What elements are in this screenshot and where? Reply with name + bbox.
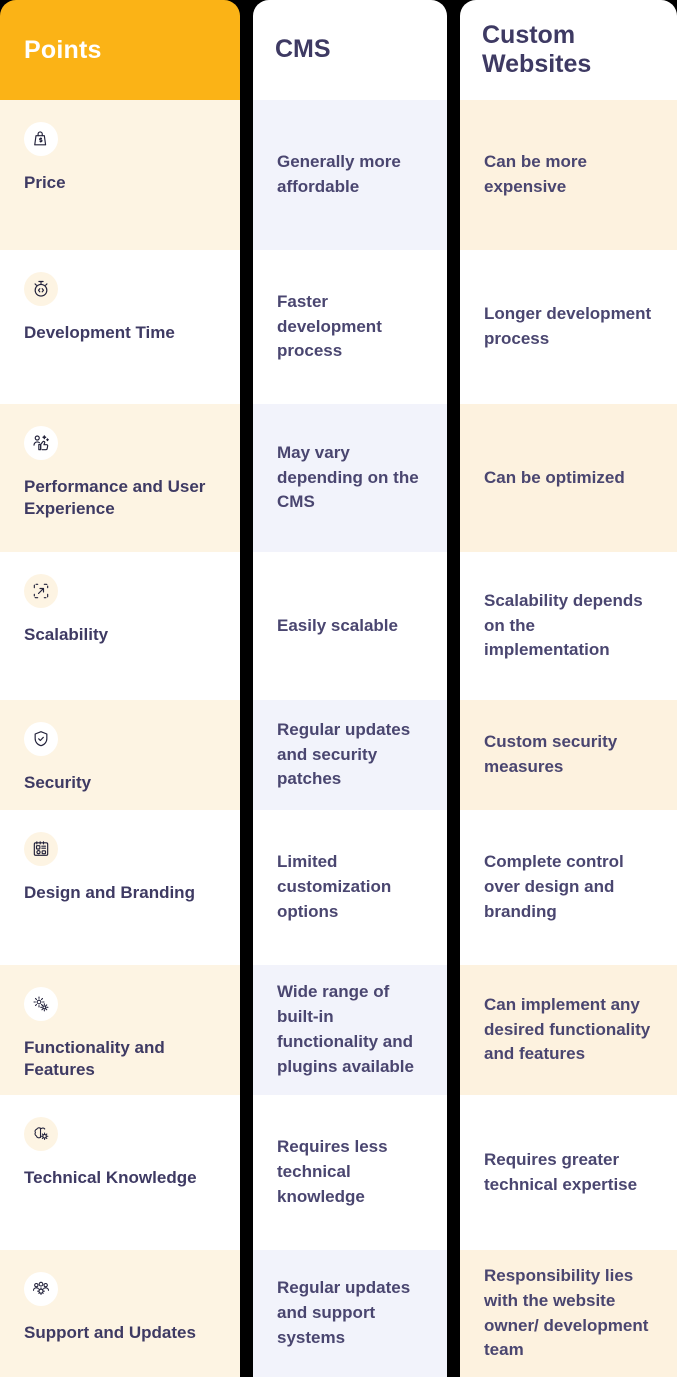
cell-text: Requires less technical knowledge [277,1135,423,1209]
points-row-label: Performance and User Experience [24,476,216,521]
expand-arrow-icon [24,574,58,608]
points-row-label: Functionality and Features [24,1037,216,1082]
column-divider-1 [240,0,253,1377]
column-header-points-label: Points [24,36,102,65]
shield-check-icon [24,722,58,756]
cell-text: Requires greater technical expertise [484,1148,653,1198]
points-row-label: Scalability [24,624,216,646]
points-row-label: Development Time [24,322,216,344]
cms-cell-performance[interactable]: May vary depending on the CMS [253,404,447,552]
custom-cell-security[interactable]: Custom security measures [460,700,677,810]
custom-cell-support-updates[interactable]: Responsibility lies with the website own… [460,1250,677,1377]
cell-text: Custom security measures [484,730,653,780]
points-row-label: Support and Updates [24,1322,216,1344]
cell-text: Easily scalable [277,614,423,639]
column-header-points: Points [0,0,240,100]
custom-cell-functionality[interactable]: Can implement any desired functionality … [460,965,677,1095]
comparison-table: Points Price [0,0,677,1377]
custom-cell-design-branding[interactable]: Complete control over design and brandin… [460,810,677,965]
cell-text: Responsibility lies with the website own… [484,1264,653,1363]
custom-cell-price[interactable]: Can be more expensive [460,100,677,250]
points-row-support-updates[interactable]: Support and Updates [0,1250,240,1377]
column-points: Points Price [0,0,240,1377]
custom-cell-technical-knowledge[interactable]: Requires greater technical expertise [460,1095,677,1250]
points-row-label: Price [24,172,216,194]
cms-cell-support-updates[interactable]: Regular updates and support systems [253,1250,447,1377]
custom-cell-performance[interactable]: Can be optimized [460,404,677,552]
cell-text: May vary depending on the CMS [277,441,423,515]
column-header-cms: CMS [253,0,447,100]
cell-text: Faster development process [277,290,423,364]
support-people-icon [24,1272,58,1306]
cell-text: Generally more affordable [277,150,423,200]
column-divider-2 [447,0,460,1377]
user-thumbs-up-icon [24,426,58,460]
column-header-custom-websites: Custom Websites [460,0,677,100]
cell-text: Complete control over design and brandin… [484,850,653,924]
cms-cell-security[interactable]: Regular updates and security patches [253,700,447,810]
custom-cell-development-time[interactable]: Longer development process [460,250,677,404]
cms-cell-design-branding[interactable]: Limited customization options [253,810,447,965]
cms-cell-functionality[interactable]: Wide range of built-in functionality and… [253,965,447,1095]
cms-cell-development-time[interactable]: Faster development process [253,250,447,404]
points-row-functionality[interactable]: Functionality and Features [0,965,240,1095]
points-row-label: Security [24,772,216,794]
cell-text: Regular updates and security patches [277,718,423,792]
gears-icon [24,987,58,1021]
cell-text: Can implement any desired functionality … [484,993,653,1067]
stopwatch-code-icon [24,272,58,306]
cell-text: Longer development process [484,302,653,352]
column-cms: CMS Generally more affordable Faster dev… [253,0,447,1377]
cell-text: Can be optimized [484,466,653,491]
points-row-scalability[interactable]: Scalability [0,552,240,700]
column-custom-websites: Custom Websites Can be more expensive Lo… [460,0,677,1377]
points-row-label: Technical Knowledge [24,1167,216,1189]
points-row-development-time[interactable]: Development Time [0,250,240,404]
cms-cell-scalability[interactable]: Easily scalable [253,552,447,700]
cell-text: Scalability depends on the implementatio… [484,589,653,663]
cms-cell-price[interactable]: Generally more affordable [253,100,447,250]
cms-cell-technical-knowledge[interactable]: Requires less technical knowledge [253,1095,447,1250]
points-row-label: Design and Branding [24,882,216,904]
design-board-icon [24,832,58,866]
cell-text: Can be more expensive [484,150,653,200]
points-row-design-branding[interactable]: Design and Branding [0,810,240,965]
cell-text: Wide range of built-in functionality and… [277,980,423,1079]
column-header-cms-label: CMS [275,35,331,65]
cms-rows: Generally more affordable Faster develop… [253,100,447,1377]
points-rows: Price Development Time [0,100,240,1377]
brain-gear-icon [24,1117,58,1151]
custom-cell-scalability[interactable]: Scalability depends on the implementatio… [460,552,677,700]
points-row-performance[interactable]: Performance and User Experience [0,404,240,552]
points-row-technical-knowledge[interactable]: Technical Knowledge [0,1095,240,1250]
column-header-custom-websites-label: Custom Websites [482,21,653,80]
points-row-security[interactable]: Security [0,700,240,810]
shopping-bag-dollar-icon [24,122,58,156]
custom-rows: Can be more expensive Longer development… [460,100,677,1377]
cell-text: Regular updates and support systems [277,1276,423,1350]
points-row-price[interactable]: Price [0,100,240,250]
cell-text: Limited customization options [277,850,423,924]
